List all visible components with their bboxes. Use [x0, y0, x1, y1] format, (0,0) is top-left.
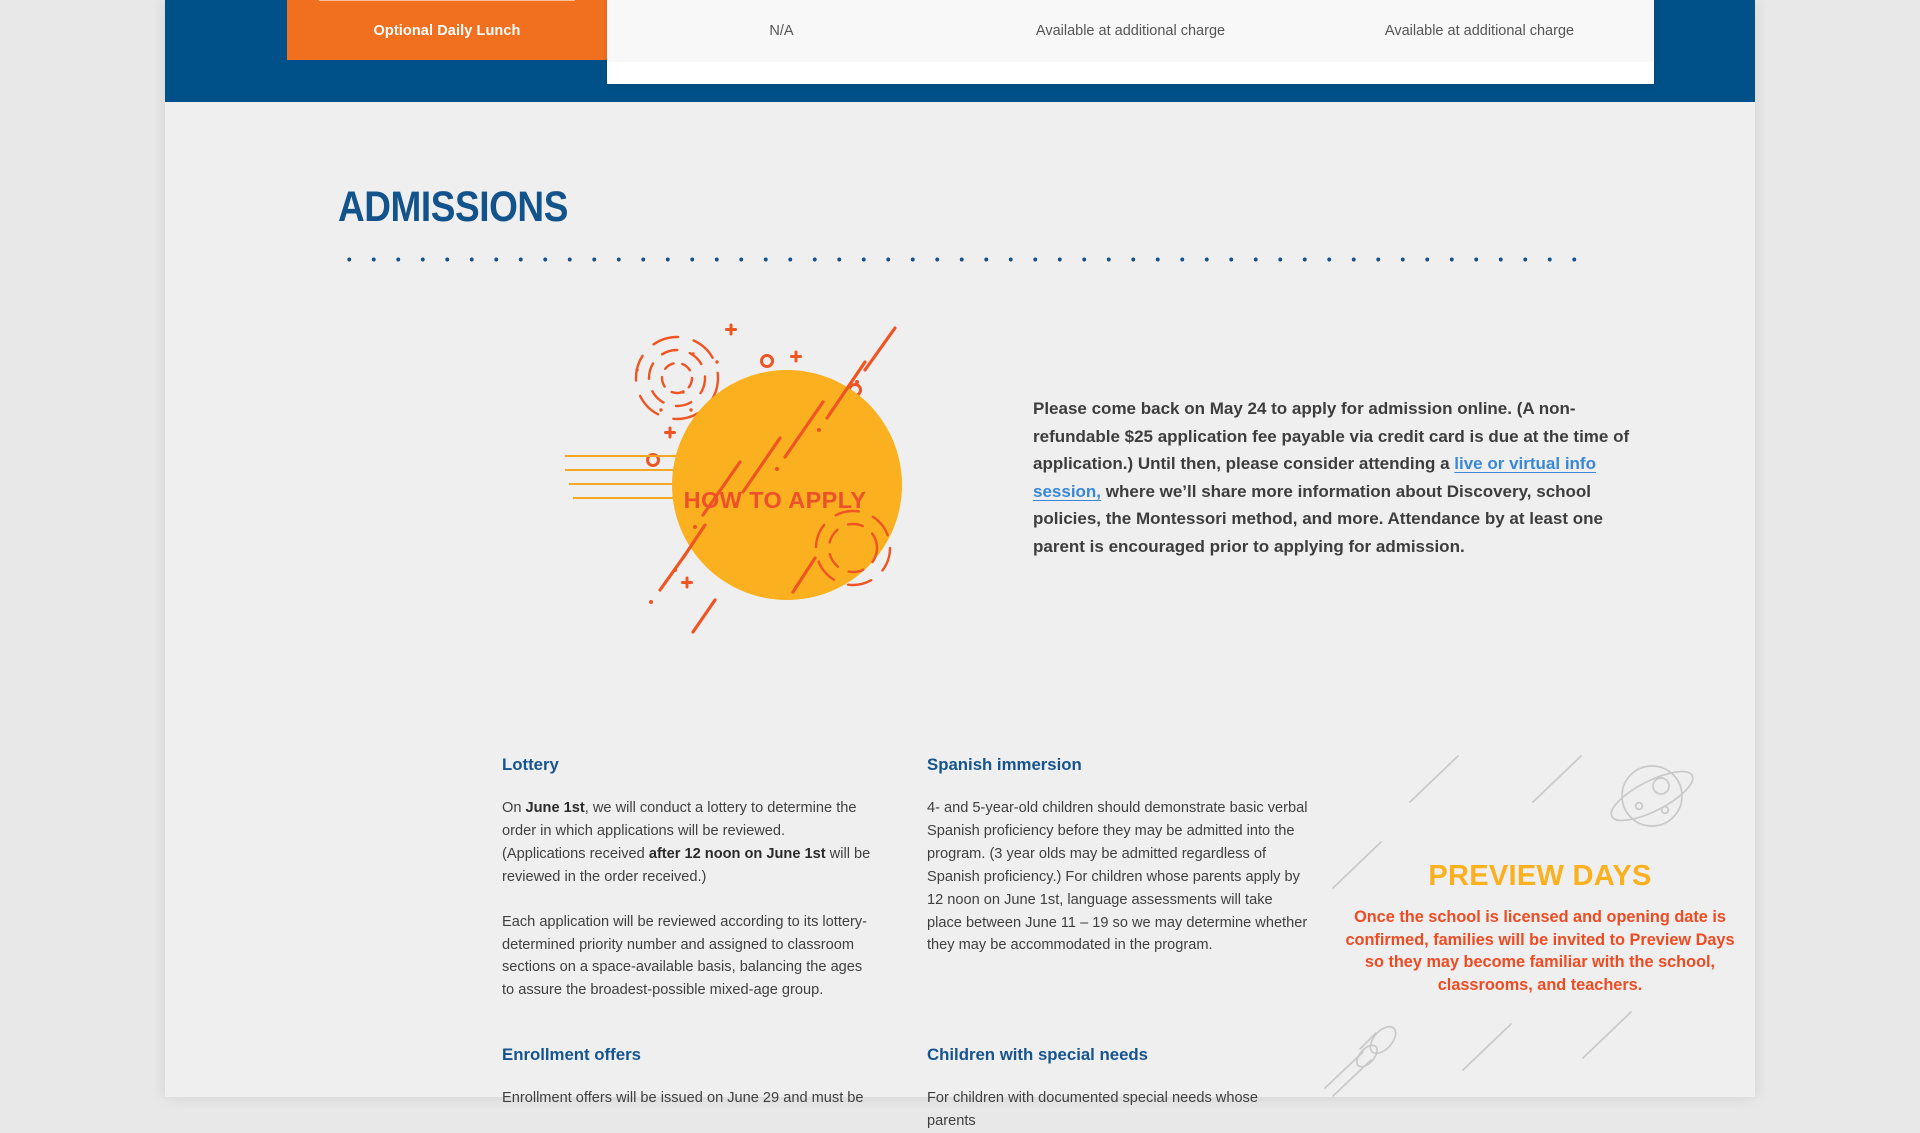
telescope-icon	[1325, 1022, 1400, 1096]
emphasis-text: after 12 noon on June 1st	[649, 846, 826, 862]
text-run: On	[502, 800, 526, 816]
section-heading: Lottery	[502, 755, 872, 775]
section-body: Enrollment offers will be issued on June…	[502, 1087, 872, 1110]
table-label-column: Daily Snacks Optional Daily Lunch	[287, 0, 607, 60]
paragraph: Enrollment offers will be issued on June…	[502, 1087, 872, 1110]
table-data-area: N/A ✔ ✔ N/A Available at additional char…	[607, 0, 1654, 84]
preview-days-block: PREVIEW DAYS Once the school is licensed…	[1345, 860, 1735, 996]
paragraph: Each application will be reviewed accord…	[502, 911, 872, 1003]
table-cell: Available at additional charge	[1305, 23, 1654, 39]
paragraph: For children with documented special nee…	[927, 1087, 1310, 1133]
text-run: Each application will be reviewed accord…	[502, 914, 867, 999]
yellow-circle	[672, 370, 902, 600]
table-cell: N/A	[607, 23, 956, 39]
page-container: Daily Snacks Optional Daily Lunch N/A ✔ …	[165, 0, 1755, 1097]
section-enrollment-offers: Enrollment offers Enrollment offers will…	[502, 1045, 872, 1110]
section-heading: Enrollment offers	[502, 1045, 872, 1065]
table-row-label: Optional Daily Lunch	[319, 0, 575, 60]
section-children-special-needs: Children with special needs For children…	[927, 1045, 1310, 1133]
preview-days-body: Once the school is licensed and opening …	[1345, 906, 1735, 996]
table-row: N/A Available at additional charge Avail…	[607, 0, 1654, 62]
how-to-apply-graphic: HOW TO APPLY	[565, 310, 985, 650]
section-body: For children with documented special nee…	[927, 1087, 1310, 1133]
emphasis-text: June 1st	[526, 800, 585, 816]
text-run: Enrollment offers will be issued on June…	[502, 1090, 864, 1106]
section-spanish-immersion: Spanish immersion 4- and 5-year-old chil…	[927, 755, 1310, 957]
admissions-intro-paragraph: Please come back on May 24 to apply for …	[1033, 395, 1639, 561]
section-body: On June 1st, we will conduct a lottery t…	[502, 797, 872, 1002]
preview-days-title: PREVIEW DAYS	[1345, 860, 1735, 893]
section-lottery: Lottery On June 1st, we will conduct a l…	[502, 755, 872, 1002]
page-title: ADMISSIONS	[338, 183, 568, 232]
text-run: For children with documented special nee…	[927, 1090, 1258, 1129]
section-body: 4- and 5-year-old children should demons…	[927, 797, 1310, 957]
table-bottom-padding	[607, 62, 1654, 84]
section-heading: Spanish immersion	[927, 755, 1310, 775]
text-run: 4- and 5-year-old children should demons…	[927, 800, 1307, 953]
paragraph: 4- and 5-year-old children should demons…	[927, 797, 1310, 957]
pricing-comparison-table: Daily Snacks Optional Daily Lunch N/A ✔ …	[165, 0, 1755, 135]
intro-text-after-link: where we’ll share more information about…	[1033, 482, 1603, 556]
planet-icon	[1605, 762, 1699, 830]
dotted-divider	[337, 257, 1584, 262]
table-cell: Available at additional charge	[956, 23, 1305, 39]
how-to-apply-illustration	[565, 310, 985, 650]
section-heading: Children with special needs	[927, 1045, 1310, 1065]
paragraph: On June 1st, we will conduct a lottery t…	[502, 797, 872, 889]
